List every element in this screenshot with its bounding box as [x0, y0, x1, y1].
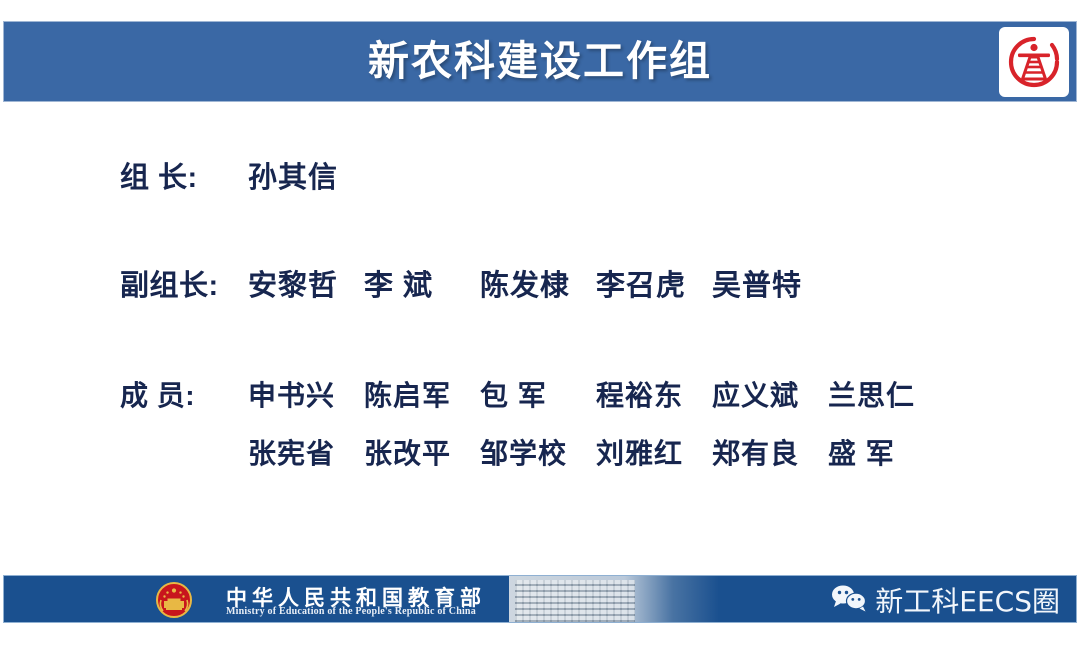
row-deputy: 副组长: 安黎哲 李 斌 陈发棣 李召虎 吴普特: [120, 262, 806, 304]
member-name: 刘雅红: [596, 432, 690, 472]
member-name: 安黎哲: [248, 262, 342, 304]
slide-canvas: 新农科建设工作组 组 长: 孙其信: [0, 0, 1080, 646]
row-members-2: 张宪省 张改平 邹学校 刘雅红 郑有良 盛 军: [248, 432, 922, 472]
title-banner: 新农科建设工作组: [3, 21, 1077, 102]
member-name: 兰思仁: [828, 374, 922, 414]
member-name: 包 军: [480, 374, 574, 414]
ministry-name-en: Ministry of Education of the People's Re…: [226, 606, 476, 617]
member-name: 程裕东: [596, 374, 690, 414]
member-name: 盛 军: [828, 432, 922, 472]
page-title: 新农科建设工作组: [368, 41, 712, 82]
row-leader-label: 组 长:: [120, 154, 248, 196]
member-name: 陈发棣: [480, 262, 574, 304]
member-name: 应义斌: [712, 374, 806, 414]
watermark-label: 新工科EECS圈: [875, 580, 1060, 620]
ministry-building-photo: [509, 576, 719, 622]
row-leader: 组 长: 孙其信: [120, 154, 342, 196]
wechat-watermark: 新工科EECS圈: [830, 580, 1060, 620]
wechat-icon: [830, 583, 868, 618]
member-name: 郑有良: [712, 432, 806, 472]
member-name: 张宪省: [248, 432, 342, 472]
member-name: 吴普特: [712, 262, 806, 304]
member-name: 陈启军: [364, 374, 458, 414]
cau-crest-icon: [999, 27, 1069, 97]
row-deputy-label: 副组长:: [120, 262, 248, 304]
row-members-label: 成 员:: [120, 374, 248, 414]
member-name: 李召虎: [596, 262, 690, 304]
member-name: 张改平: [364, 432, 458, 472]
member-name: 孙其信: [248, 154, 342, 196]
member-name: 李 斌: [364, 262, 458, 304]
china-national-emblem-icon: [154, 580, 194, 620]
row-members-1: 成 员: 申书兴 陈启军 包 军 程裕东 应义斌 兰思仁: [120, 374, 922, 414]
member-name: 邹学校: [480, 432, 574, 472]
content-area: 组 长: 孙其信 副组长: 安黎哲 李 斌 陈发棣 李召虎 吴普特 成 员: 申…: [0, 102, 1080, 560]
member-name: 申书兴: [248, 374, 342, 414]
